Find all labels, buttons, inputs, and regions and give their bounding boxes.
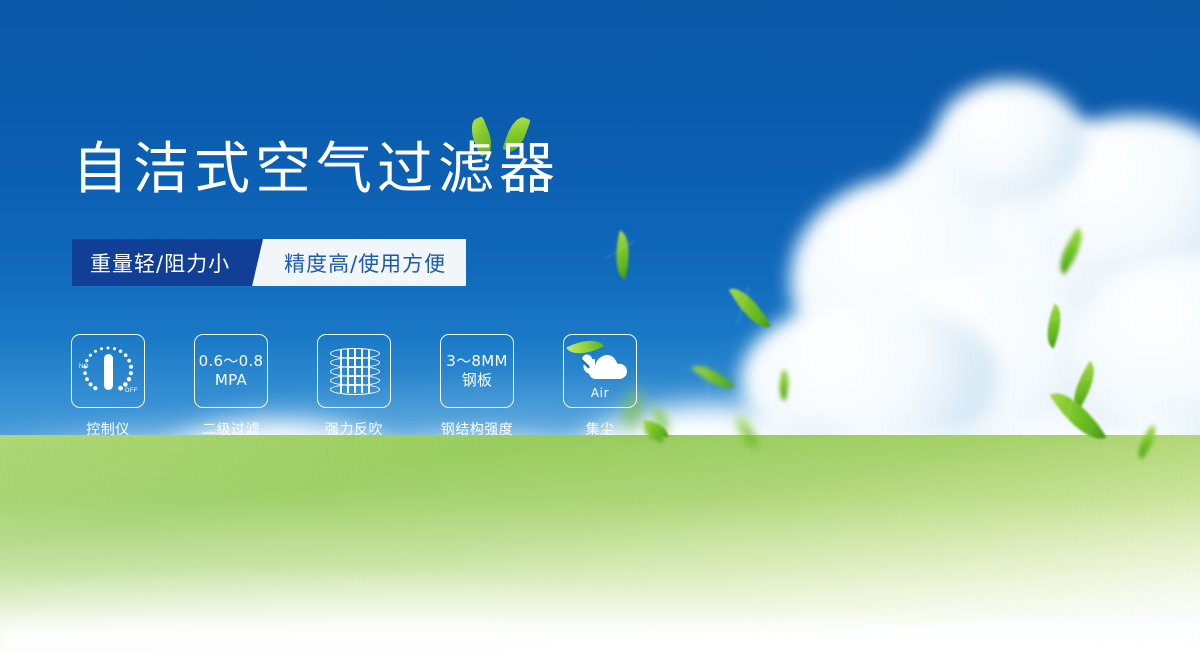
control-dial-icon: NO OFF xyxy=(79,342,137,400)
filter-coil-icon xyxy=(328,345,380,397)
subtitle-right: 精度高/使用方便 xyxy=(278,239,466,286)
feature-label: 集尘 xyxy=(586,419,615,439)
dial-on-label: NO xyxy=(79,364,89,370)
feature-icon-box: 3～8MM 钢板 xyxy=(440,334,514,408)
feature-item-control-panel[interactable]: NO OFF 控制仪 xyxy=(72,334,144,439)
grass-bottom-edge xyxy=(0,616,1200,650)
steel-line-2: 钢板 xyxy=(446,371,507,390)
grass-field xyxy=(0,435,1200,650)
subtitle-left: 重量轻/阻力小 xyxy=(72,239,252,286)
subtitle-divider xyxy=(252,239,278,286)
pressure-line-1: 0.6～0.8 xyxy=(199,352,264,371)
pressure-line-2: MPA xyxy=(199,371,264,390)
feature-icon-box: 0.6～0.8 MPA xyxy=(194,334,268,408)
feature-icon-row: NO OFF 控制仪 0.6～0.8 MPA 二级过滤 xyxy=(72,334,636,439)
feature-label: 控制仪 xyxy=(86,419,130,439)
dial-toggle-bar xyxy=(104,354,113,390)
feature-icon-box: Air xyxy=(563,334,637,408)
feature-item-back-blow[interactable]: 强力反吹 xyxy=(318,334,390,439)
air-label: Air xyxy=(570,386,630,400)
feature-item-two-stage-filter[interactable]: 0.6～0.8 MPA 二级过滤 xyxy=(195,334,267,439)
subtitle-bar: 重量轻/阻力小 精度高/使用方便 xyxy=(72,239,466,286)
feature-item-dust-collection[interactable]: Air 集尘 xyxy=(564,334,636,439)
feature-label: 二级过滤 xyxy=(202,419,260,439)
feature-label: 钢结构强度 xyxy=(441,419,514,439)
cumulus-cloud-right xyxy=(770,115,1200,445)
steel-line-1: 3～8MM xyxy=(446,352,507,371)
page-title: 自洁式空气过滤器 xyxy=(72,142,560,198)
feature-icon-box xyxy=(317,334,391,408)
feature-item-steel-strength[interactable]: 3～8MM 钢板 钢结构强度 xyxy=(441,334,513,439)
pressure-text-icon: 0.6～0.8 MPA xyxy=(199,352,264,390)
feature-icon-box: NO OFF xyxy=(71,334,145,408)
steel-plate-text-icon: 3～8MM 钢板 xyxy=(446,352,507,390)
feature-label: 强力反吹 xyxy=(325,419,383,439)
dial-off-label: OFF xyxy=(125,388,138,394)
air-cloud-icon: Air xyxy=(570,345,630,397)
hero-banner: 自洁式空气过滤器 重量轻/阻力小 精度高/使用方便 xyxy=(0,0,1200,650)
